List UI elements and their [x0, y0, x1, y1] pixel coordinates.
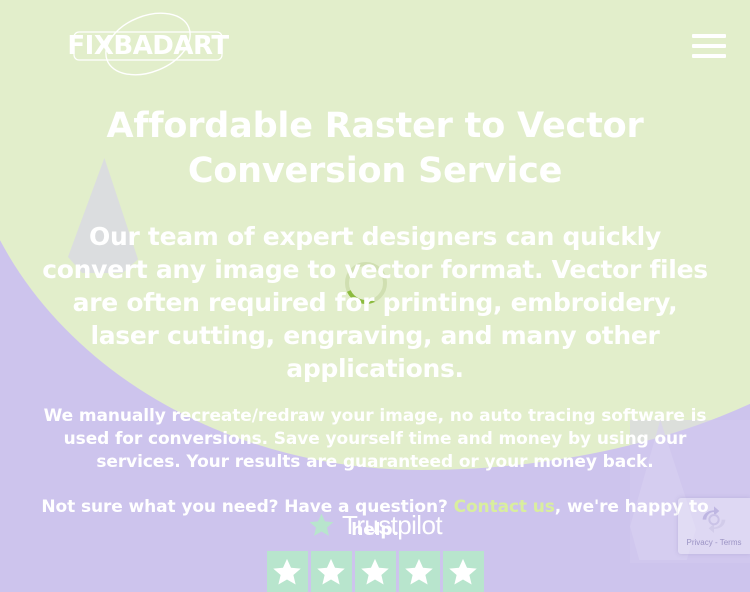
trustpilot-wordmark: Trustpilot	[342, 510, 442, 541]
hamburger-menu-icon[interactable]	[692, 32, 726, 60]
star-icon	[360, 557, 390, 587]
star-icon	[448, 557, 478, 587]
brand-logo-text: FIXBADART	[67, 31, 229, 61]
hamburger-bar-bottom	[692, 54, 726, 58]
trustpilot-star-2	[311, 551, 352, 592]
star-icon	[404, 557, 434, 587]
trustpilot-star-5	[443, 551, 484, 592]
hamburger-bar-middle	[692, 44, 726, 48]
trustpilot-star-icon	[308, 512, 335, 538]
trustpilot-star-3	[355, 551, 396, 592]
site-header: FIXBADART	[0, 0, 750, 92]
recaptcha-privacy-terms-label[interactable]: Privacy - Terms	[687, 538, 742, 547]
trustpilot-star-1	[267, 551, 308, 592]
trustpilot-rating-stars	[267, 551, 484, 592]
page-title: Affordable Raster to Vector Conversion S…	[40, 104, 710, 194]
hero-lead-paragraph: Our team of expert designers can quickly…	[40, 220, 710, 385]
star-icon	[316, 557, 346, 587]
trustpilot-widget[interactable]: Trustpilot	[0, 508, 750, 592]
hero-paragraph-1: We manually recreate/redraw your image, …	[40, 405, 710, 474]
trustpilot-brand: Trustpilot	[308, 508, 442, 542]
ellipse-outline-logo: FIXBADART	[64, 10, 244, 82]
brand-logo[interactable]: FIXBADART	[64, 10, 244, 82]
recaptcha-logo-icon	[698, 505, 730, 537]
star-icon	[272, 557, 302, 587]
recaptcha-badge[interactable]: Privacy - Terms	[678, 498, 750, 554]
hamburger-bar-top	[692, 34, 726, 38]
trustpilot-star-4	[399, 551, 440, 592]
